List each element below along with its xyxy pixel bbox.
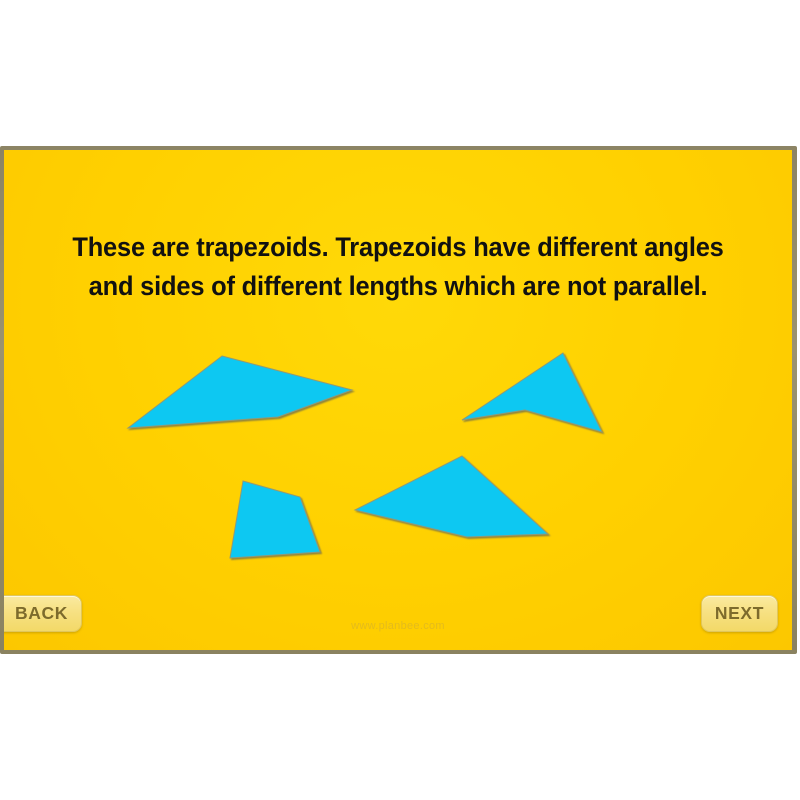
trapezoid-top-right	[462, 353, 602, 432]
trapezoid-bottom-right	[355, 456, 548, 537]
trapezoid-top-left	[128, 356, 352, 428]
slide-stage: These are trapezoids. Trapezoids have di…	[0, 0, 800, 800]
next-button[interactable]: NEXT	[701, 595, 778, 632]
trapezoid-bottom-left	[230, 481, 320, 558]
shapes-group	[4, 150, 792, 650]
back-button-label: BACK	[15, 603, 68, 624]
back-button[interactable]: BACK	[4, 595, 82, 632]
next-button-label: NEXT	[715, 603, 764, 624]
slide-canvas: These are trapezoids. Trapezoids have di…	[4, 150, 792, 650]
shapes-svg	[4, 150, 792, 650]
slide-frame: These are trapezoids. Trapezoids have di…	[0, 146, 797, 654]
